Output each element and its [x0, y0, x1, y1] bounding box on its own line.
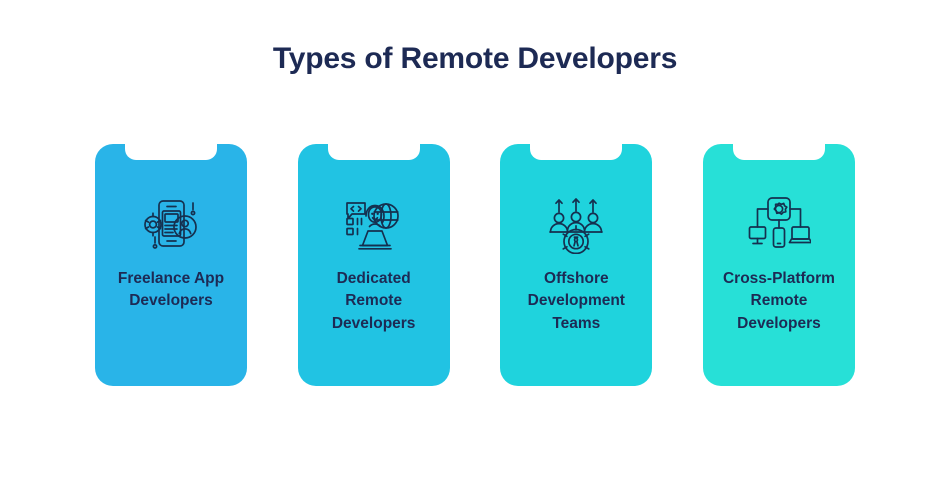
card-cross-platform-remote-developers[interactable]: Cross-Platform Remote Developers: [703, 144, 855, 386]
card-offshore-development-teams[interactable]: Offshore Development Teams: [500, 144, 652, 386]
mobile-app-user-gear-icon: [139, 196, 203, 254]
card-notch: [733, 143, 825, 160]
card-label: Offshore Development Teams: [508, 268, 644, 335]
cards-row: Freelance App Developers: [95, 144, 855, 386]
developer-laptop-globe-code-icon: [342, 196, 406, 254]
card-freelance-app-developers[interactable]: Freelance App Developers: [95, 144, 247, 386]
card-dedicated-remote-developers[interactable]: Dedicated Remote Developers: [298, 144, 450, 386]
card-notch: [530, 143, 622, 160]
cross-platform-devices-gear-icon: [747, 196, 811, 254]
card-label: Cross-Platform Remote Developers: [711, 268, 847, 335]
card-notch: [328, 143, 420, 160]
card-notch: [125, 143, 217, 160]
team-growth-gear-icon: [544, 196, 608, 254]
page-title: Types of Remote Developers: [0, 42, 950, 76]
card-label: Dedicated Remote Developers: [306, 268, 442, 335]
card-label: Freelance App Developers: [103, 268, 239, 313]
